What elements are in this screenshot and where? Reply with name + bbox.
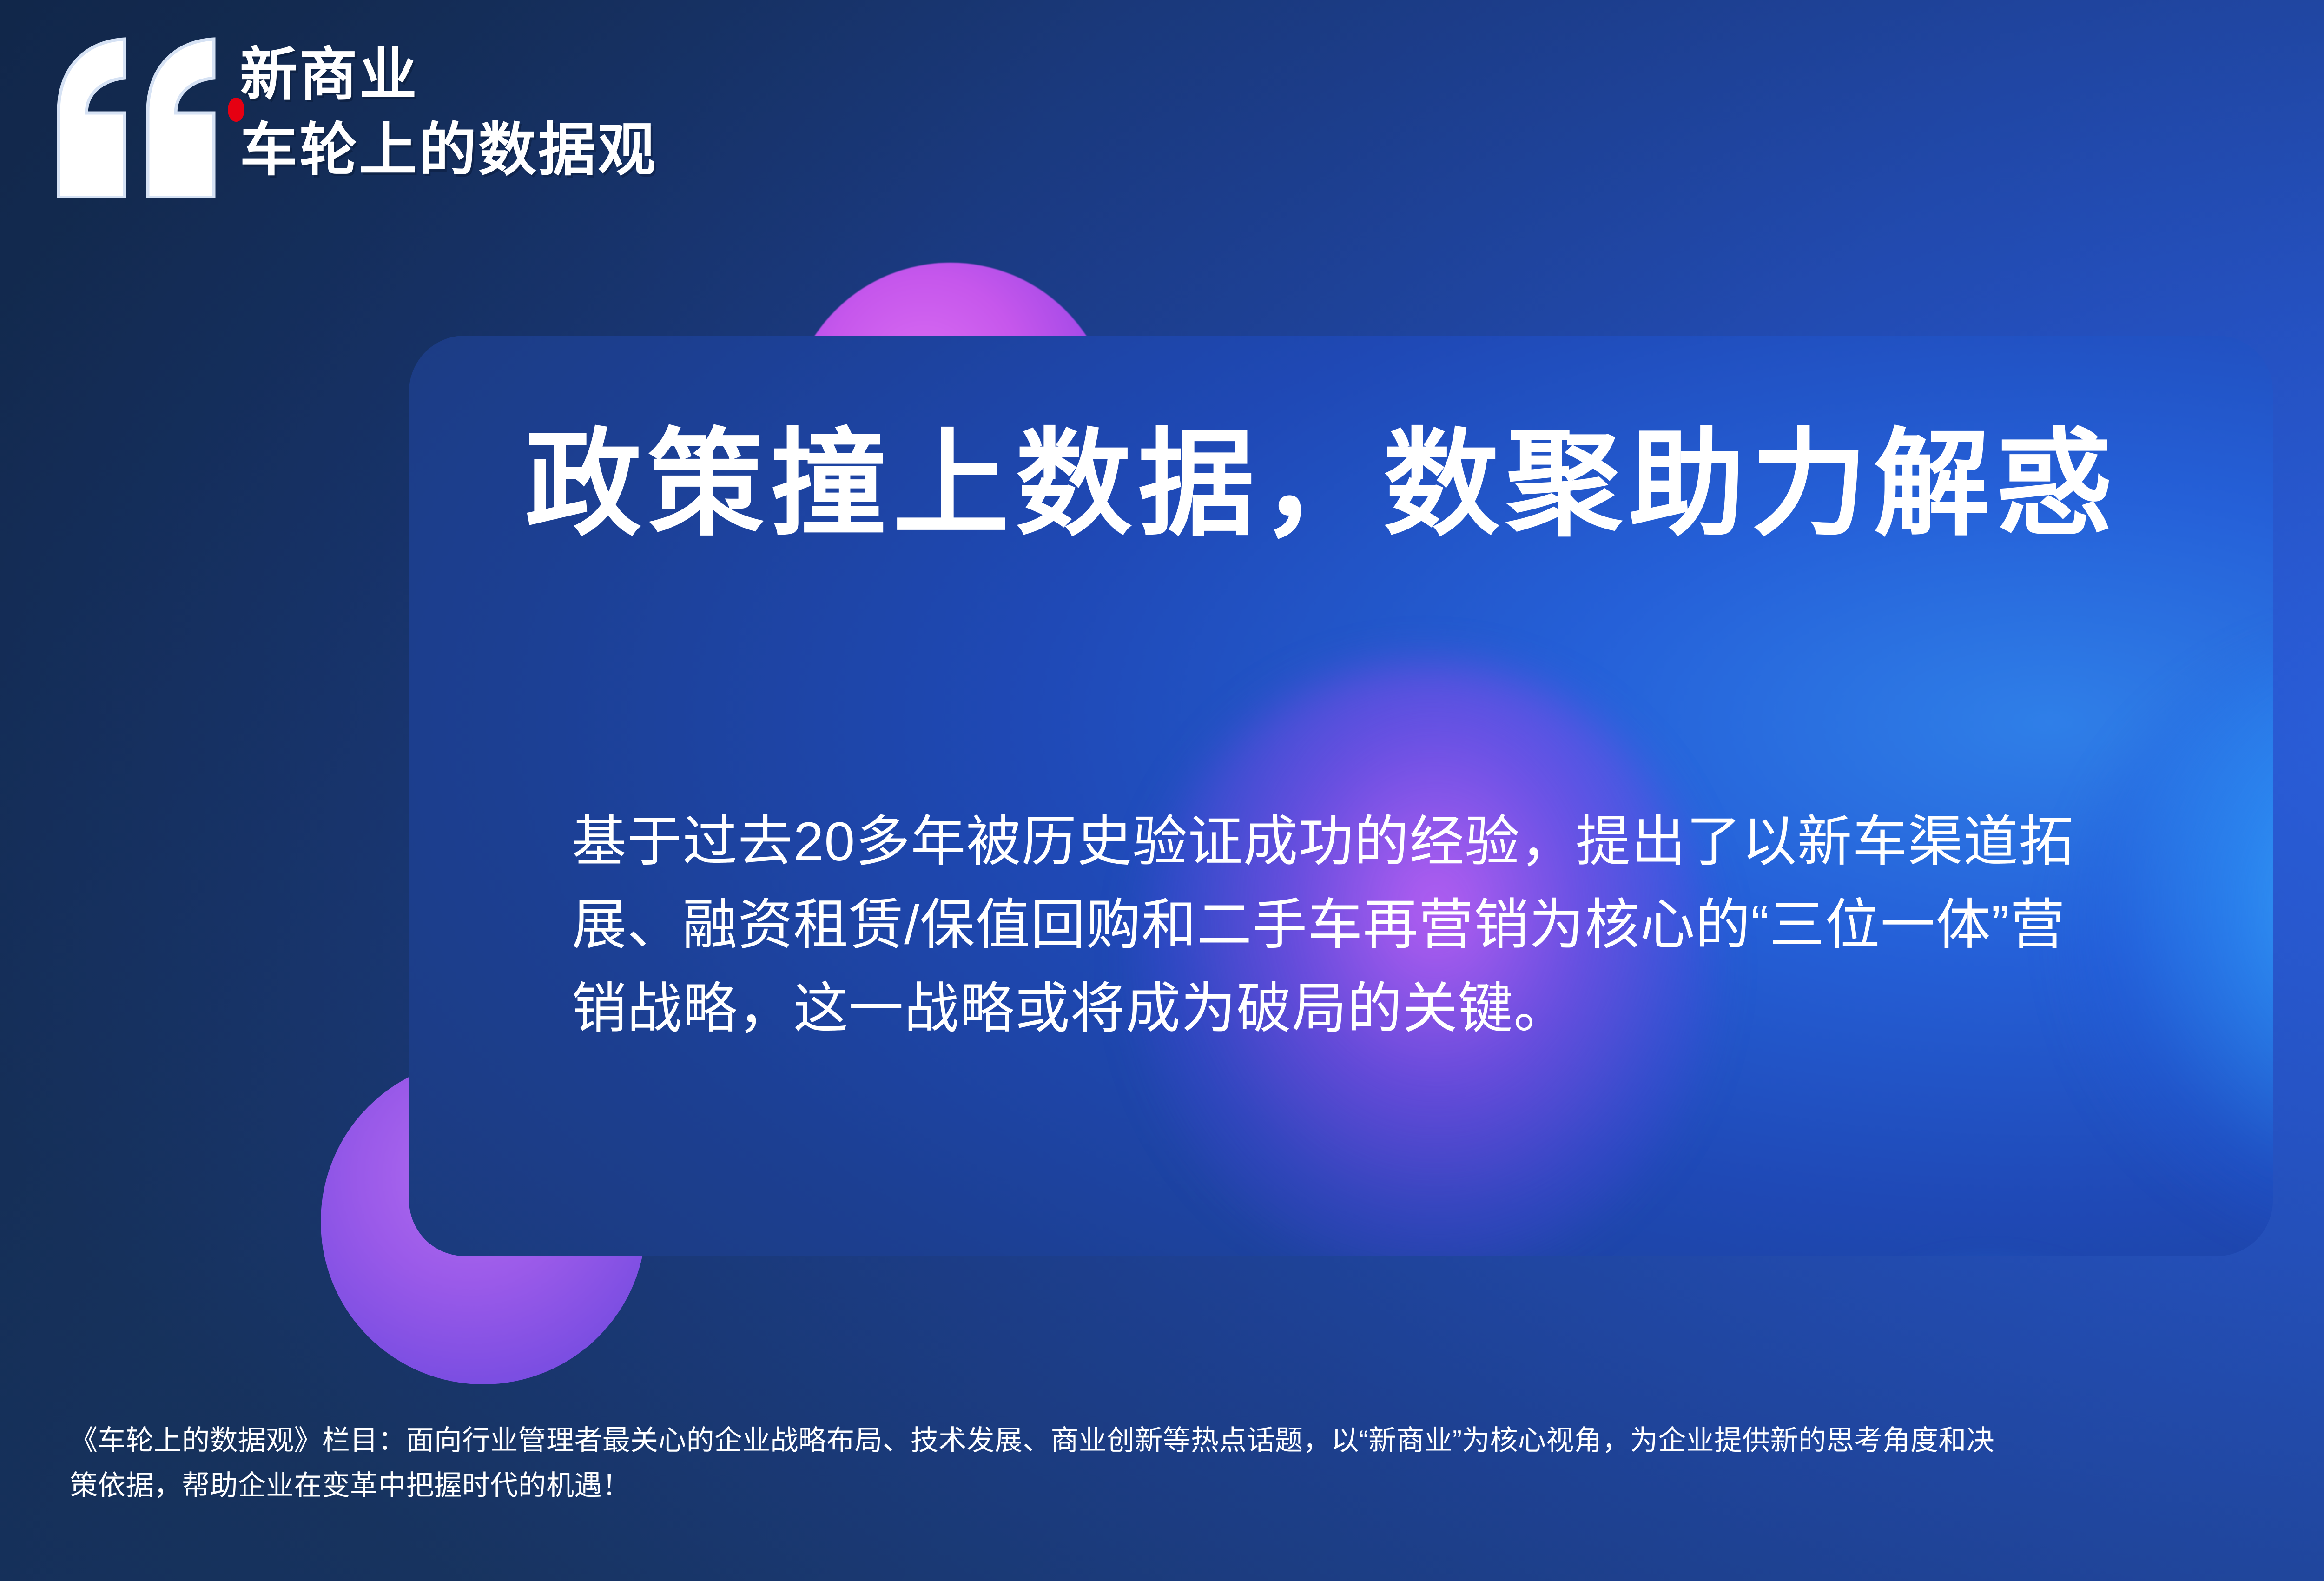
open-quote-mark-icon: [55, 37, 218, 198]
page-title: 政策撞上数据，数聚助力解惑: [525, 426, 2119, 542]
masthead: 新商业 车轮上的数据观: [55, 37, 657, 198]
brand-column-name: 车轮上的数据观: [240, 121, 657, 179]
footer-line-2: 策依据，帮助企业在变革中把握时代的机遇！: [70, 1463, 2324, 1508]
brand-lockup: 新商业 车轮上的数据观: [240, 37, 657, 180]
body-paragraph: 基于过去20多年被历史验证成功的经验，提出了以新车渠道拓 展、融资租赁/保值回购…: [572, 800, 2212, 1051]
footer-description: 《车轮上的数据观》栏目：面向行业管理者最关心的企业战略布局、技术发展、商业创新等…: [70, 1418, 2324, 1508]
body-line-3: 销战略，这一战略或将成为破局的关键。: [572, 967, 2212, 1051]
body-line-1: 基于过去20多年被历史验证成功的经验，提出了以新车渠道拓: [572, 800, 2212, 884]
brand-row-primary: 新商业: [240, 46, 419, 104]
footer-line-1: 《车轮上的数据观》栏目：面向行业管理者最关心的企业战略布局、技术发展、商业创新等…: [70, 1418, 2324, 1463]
content-card: 政策撞上数据，数聚助力解惑 基于过去20多年被历史验证成功的经验，提出了以新车渠…: [409, 336, 2273, 1256]
poster-stage: 政策撞上数据，数聚助力解惑 基于过去20多年被历史验证成功的经验，提出了以新车渠…: [0, 0, 2324, 1581]
brand-name: 新商业: [240, 46, 419, 104]
body-line-2: 展、融资租赁/保值回购和二手车再营销为核心的“三位一体”营: [572, 884, 2212, 967]
